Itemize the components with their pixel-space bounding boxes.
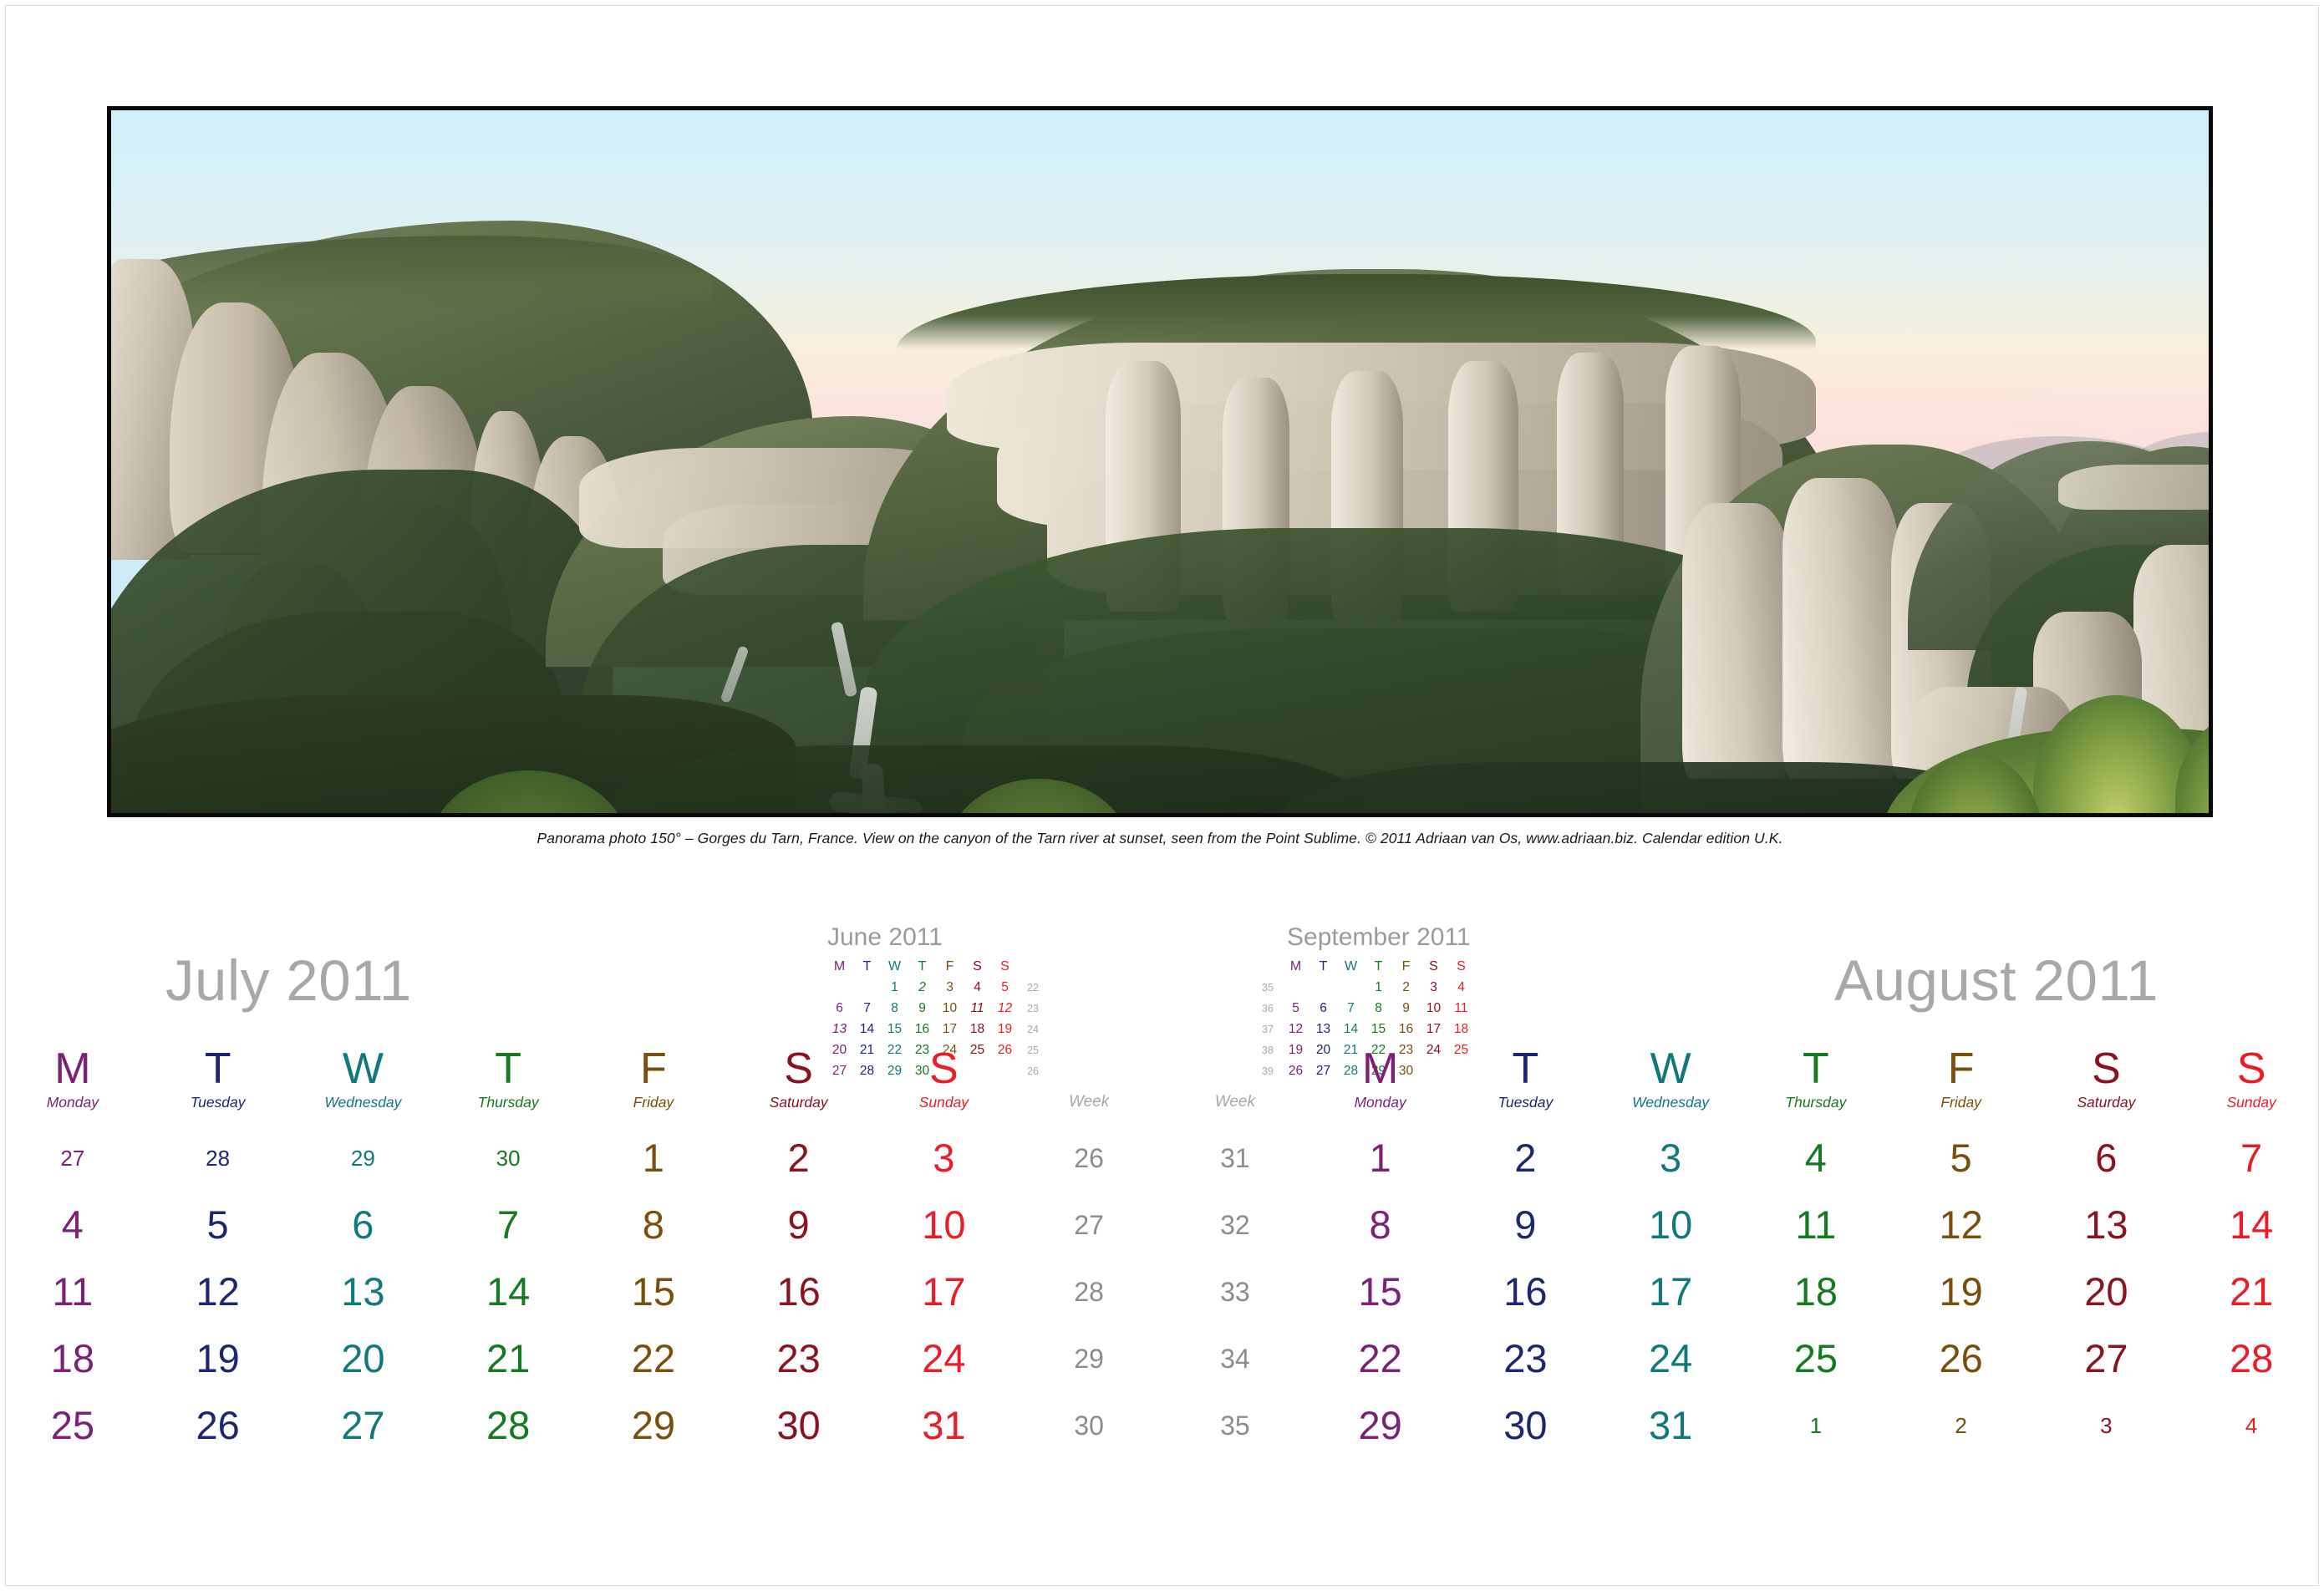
day-number[interactable]: 1 [581,1125,726,1192]
dow-initial-saturday: S [726,1046,872,1091]
day-number[interactable]: 31 [1598,1392,1743,1459]
day-number[interactable]: 30 [1453,1392,1599,1459]
dow-initial-letter: T [145,1046,291,1091]
day-number[interactable]: 28 [435,1392,581,1459]
month-grid-july: MTWTFSSWMondayTuesdayWednesdayThursdayFr… [0,1046,1162,1459]
grid-spacer [291,1113,436,1125]
dow-name-label: Friday [581,1091,726,1113]
day-number-adjacent-month[interactable]: 1 [1743,1392,1889,1459]
day-cell[interactable]: 30 [1453,1392,1599,1459]
week-number-cell: 33 [1162,1258,1308,1325]
day-number[interactable]: 21 [2179,1258,2324,1325]
day-cell[interactable]: 14 [435,1258,581,1325]
week-number-cell: 29 [1016,1325,1162,1392]
grid-spacer [1162,1113,1308,1125]
day-cell[interactable]: 29 [291,1125,436,1192]
panorama-photo-gorges-du-tarn [111,110,2209,813]
day-cell[interactable]: 6 [2034,1125,2179,1192]
week-number-cell: 34 [1162,1325,1308,1392]
day-cell[interactable]: 1 [581,1125,726,1192]
grid-spacer [1889,1113,2034,1125]
grid-spacer [726,1113,872,1125]
week-number: 32 [1162,1192,1308,1258]
day-cell[interactable]: 29 [581,1392,726,1459]
week-number: 28 [1016,1258,1162,1325]
day-cell[interactable]: 22 [1308,1325,1453,1392]
dow-initial-monday: M [1308,1046,1453,1091]
week-number: 27 [1016,1192,1162,1258]
dow-name-friday: Friday [581,1091,726,1113]
week-number: 34 [1162,1325,1308,1392]
day-cell[interactable]: 2 [1453,1125,1599,1192]
day-cell[interactable]: 19 [1889,1258,2034,1325]
day-number[interactable]: 7 [2179,1125,2324,1192]
day-cell[interactable]: 1 [1743,1392,1889,1459]
grid-spacer [1016,1113,1162,1125]
limestone-buttress-right [1682,503,1791,779]
dow-name-wednesday: Wednesday [291,1091,436,1113]
day-cell[interactable]: 22 [581,1325,726,1392]
day-number[interactable]: 3 [872,1125,1017,1192]
day-cell[interactable]: 23 [726,1325,872,1392]
day-number[interactable]: 23 [1453,1325,1599,1392]
day-cell[interactable]: 7 [2179,1125,2324,1192]
grid-spacer [1453,1113,1599,1125]
day-cell[interactable]: 25 [1743,1325,1889,1392]
day-number[interactable]: 26 [1889,1325,2034,1392]
day-cell[interactable]: 9 [1453,1192,1599,1258]
day-number[interactable]: 16 [726,1258,872,1325]
day-number[interactable]: 6 [291,1192,436,1258]
day-number[interactable]: 5 [1889,1125,2034,1192]
week-number: 29 [1016,1325,1162,1392]
dow-name-label: Monday [1308,1091,1453,1113]
dow-name-sunday: Sunday [2179,1091,2324,1113]
dow-name-monday: Monday [1308,1091,1453,1113]
day-number[interactable]: 30 [726,1392,872,1459]
dow-name-label: Sunday [2179,1091,2324,1113]
grid-spacer [2179,1113,2324,1125]
day-number[interactable]: 17 [1598,1258,1743,1325]
day-number[interactable]: 11 [1743,1192,1889,1258]
day-cell[interactable]: 11 [1743,1192,1889,1258]
limestone-buttress-right [1782,478,1899,779]
dow-initial-saturday: S [2034,1046,2179,1091]
day-cell[interactable]: 5 [1889,1125,2034,1192]
grid-spacer [1308,1113,1453,1125]
day-number-adjacent-month[interactable]: 27 [0,1125,145,1192]
day-number[interactable]: 9 [1453,1192,1599,1258]
day-number[interactable]: 2 [1453,1125,1599,1192]
dow-initial-friday: F [1889,1046,2034,1091]
day-cell[interactable]: 24 [872,1325,1017,1392]
day-number[interactable]: 12 [1889,1192,2034,1258]
day-number[interactable]: 4 [0,1192,145,1258]
day-cell[interactable]: 2 [1889,1392,2034,1459]
dow-initial-thursday: T [435,1046,581,1091]
dow-initial-letter: S [872,1046,1017,1091]
dow-name-thursday: Thursday [1743,1091,1889,1113]
day-number[interactable]: 13 [2034,1192,2179,1258]
month-grid-august: WMTWTFSSWeekMondayTuesdayWednesdayThursd… [1162,1046,2324,1459]
dow-name-label: Tuesday [145,1091,291,1113]
day-number[interactable]: 13 [291,1258,436,1325]
dow-name-label: Thursday [1743,1091,1889,1113]
day-number[interactable]: 2 [726,1125,872,1192]
dow-name-sunday: Sunday [872,1091,1017,1113]
day-number[interactable]: 19 [1889,1258,2034,1325]
day-cell[interactable]: 24 [1598,1325,1743,1392]
day-number[interactable]: 5 [145,1192,291,1258]
day-cell[interactable]: 31 [1598,1392,1743,1459]
week-label-text: Week [1162,1091,1308,1113]
dow-initial-letter: S [2034,1046,2179,1091]
day-number[interactable]: 18 [0,1325,145,1392]
day-cell[interactable]: 27 [291,1392,436,1459]
day-cell[interactable]: 4 [0,1192,145,1258]
day-number[interactable]: 10 [1598,1192,1743,1258]
dow-name-wednesday: Wednesday [1598,1091,1743,1113]
day-cell[interactable]: 27 [2034,1325,2179,1392]
day-number[interactable]: 29 [581,1392,726,1459]
day-number[interactable]: 15 [581,1258,726,1325]
day-cell[interactable]: 3 [872,1125,1017,1192]
day-number[interactable]: 3 [1598,1125,1743,1192]
dow-initial-letter: F [1889,1046,2034,1091]
day-number[interactable]: 14 [2179,1192,2324,1258]
dow-name-label: Saturday [2034,1091,2179,1113]
day-number[interactable]: 24 [1598,1325,1743,1392]
day-cell[interactable]: 4 [1743,1125,1889,1192]
dow-name-label: Friday [1889,1091,2034,1113]
dow-name-label: Saturday [726,1091,872,1113]
day-cell[interactable]: 5 [145,1192,291,1258]
month-title-august: August 2011 [1834,948,2159,1014]
day-number-adjacent-month[interactable]: 28 [145,1125,291,1192]
dow-initial-letter: M [1308,1046,1453,1091]
day-cell[interactable]: 3 [1598,1125,1743,1192]
day-cell[interactable]: 20 [291,1325,436,1392]
dow-name-label: Sunday [872,1091,1017,1113]
dow-name-tuesday: Tuesday [145,1091,291,1113]
day-cell[interactable]: 21 [435,1325,581,1392]
week-number-cell: 31 [1162,1125,1308,1192]
day-number-adjacent-month[interactable]: 30 [435,1125,581,1192]
dow-initial-monday: M [0,1046,145,1091]
day-cell[interactable]: 28 [435,1392,581,1459]
day-cell[interactable]: 13 [291,1258,436,1325]
dow-initial-letter: W [291,1046,436,1091]
day-number[interactable]: 22 [581,1325,726,1392]
day-number[interactable]: 27 [291,1392,436,1459]
photo-caption: Panorama photo 150° – Gorges du Tarn, Fr… [107,830,2213,847]
dow-initial-sunday: S [2179,1046,2324,1091]
dow-initial-tuesday: T [145,1046,291,1091]
day-cell[interactable]: 27 [0,1125,145,1192]
week-number-cell: 32 [1162,1192,1308,1258]
day-cell[interactable]: 8 [1308,1192,1453,1258]
day-cell[interactable]: 23 [1453,1325,1599,1392]
day-cell[interactable]: 1 [1308,1125,1453,1192]
week-label-text: Week [1016,1091,1162,1113]
day-number[interactable]: 16 [1453,1258,1599,1325]
day-number[interactable]: 25 [1743,1325,1889,1392]
day-cell[interactable]: 30 [726,1392,872,1459]
day-cell[interactable]: 17 [1598,1258,1743,1325]
day-number[interactable]: 10 [872,1192,1017,1258]
day-number[interactable]: 4 [1743,1125,1889,1192]
week-label: Week [1162,1091,1308,1113]
day-cell[interactable]: 31 [872,1392,1017,1459]
month-title-july: July 2011 [165,948,412,1014]
grid-spacer [581,1113,726,1125]
day-number[interactable]: 25 [0,1392,145,1459]
dow-name-friday: Friday [1889,1091,2034,1113]
day-cell[interactable]: 15 [1308,1258,1453,1325]
day-number[interactable]: 29 [1308,1392,1453,1459]
day-cell[interactable]: 12 [1889,1192,2034,1258]
day-cell[interactable]: 28 [145,1125,291,1192]
day-number[interactable]: 19 [145,1325,291,1392]
day-cell[interactable]: 2 [726,1125,872,1192]
day-number[interactable]: 1 [1308,1125,1453,1192]
day-number[interactable]: 18 [1743,1258,1889,1325]
calendar-spread: July 2011 MTWTFSSWMondayTuesdayWednesday… [0,902,2324,1591]
dow-initial-letter: T [1743,1046,1889,1091]
day-number-adjacent-month[interactable]: 2 [1889,1392,2034,1459]
dow-initial-letter: T [435,1046,581,1091]
day-number[interactable]: 8 [1308,1192,1453,1258]
grid-spacer [1743,1113,1889,1125]
day-number[interactable]: 20 [291,1325,436,1392]
day-number[interactable]: 28 [2179,1325,2324,1392]
day-number[interactable]: 17 [872,1258,1017,1325]
day-number[interactable]: 27 [2034,1325,2179,1392]
panorama-photo-frame [107,106,2213,817]
week-number-cell: 27 [1016,1192,1162,1258]
dow-initial-letter: S [726,1046,872,1091]
day-cell[interactable]: 18 [1743,1258,1889,1325]
dow-initial-letter: F [581,1046,726,1091]
dow-name-thursday: Thursday [435,1091,581,1113]
day-cell[interactable]: 26 [1889,1325,2034,1392]
dow-initial-thursday: T [1743,1046,1889,1091]
week-column-header: W [1162,1046,1308,1091]
day-cell[interactable]: 30 [435,1125,581,1192]
dow-initial-friday: F [581,1046,726,1091]
week-number: 30 [1016,1392,1162,1459]
day-cell[interactable]: 17 [872,1258,1017,1325]
day-cell[interactable]: 4 [2179,1392,2324,1459]
dow-initial-letter: M [0,1046,145,1091]
day-number[interactable]: 26 [145,1392,291,1459]
day-cell[interactable]: 26 [145,1392,291,1459]
week-number-cell: 26 [1016,1125,1162,1192]
day-number[interactable]: 11 [0,1258,145,1325]
day-cell[interactable]: 13 [2034,1192,2179,1258]
dow-name-monday: Monday [0,1091,145,1113]
day-cell[interactable]: 28 [2179,1325,2324,1392]
day-number[interactable]: 21 [435,1325,581,1392]
dow-name-label: Wednesday [1598,1091,1743,1113]
dow-name-label: Wednesday [291,1091,436,1113]
week-number: 26 [1016,1125,1162,1192]
day-cell[interactable]: 20 [2034,1258,2179,1325]
dow-initial-letter: W [1598,1046,1743,1091]
dow-initial-wednesday: W [1598,1046,1743,1091]
dow-name-tuesday: Tuesday [1453,1091,1599,1113]
day-cell[interactable]: 16 [1453,1258,1599,1325]
dow-initial-letter: S [2179,1046,2324,1091]
day-cell[interactable]: 21 [2179,1258,2324,1325]
grid-spacer [0,1113,145,1125]
day-cell[interactable]: 18 [0,1325,145,1392]
grid-spacer [1598,1113,1743,1125]
day-cell[interactable]: 10 [1598,1192,1743,1258]
grid-spacer [2034,1113,2179,1125]
dow-initial-sunday: S [872,1046,1017,1091]
day-cell[interactable]: 11 [0,1258,145,1325]
day-cell[interactable]: 14 [2179,1192,2324,1258]
week-label: Week [1016,1091,1162,1113]
day-number[interactable]: 12 [145,1258,291,1325]
day-number[interactable]: 7 [435,1192,581,1258]
dow-name-label: Monday [0,1091,145,1113]
day-number[interactable]: 15 [1308,1258,1453,1325]
day-cell[interactable]: 3 [2034,1392,2179,1459]
day-number[interactable]: 14 [435,1258,581,1325]
day-number[interactable]: 22 [1308,1325,1453,1392]
dow-initial-tuesday: T [1453,1046,1599,1091]
day-cell[interactable]: 15 [581,1258,726,1325]
day-number[interactable]: 20 [2034,1258,2179,1325]
week-number: 35 [1162,1392,1308,1459]
day-cell[interactable]: 19 [145,1325,291,1392]
dow-name-label: Thursday [435,1091,581,1113]
day-cell[interactable]: 16 [726,1258,872,1325]
day-number-adjacent-month[interactable]: 4 [2179,1392,2324,1459]
dow-initial-wednesday: W [291,1046,436,1091]
calendar-page: Panorama photo 150° – Gorges du Tarn, Fr… [0,0,2324,1591]
grid-spacer [435,1113,581,1125]
day-number[interactable]: 6 [2034,1125,2179,1192]
dow-name-label: Tuesday [1453,1091,1599,1113]
day-cell[interactable]: 12 [145,1258,291,1325]
dow-name-saturday: Saturday [2034,1091,2179,1113]
grid-spacer [872,1113,1017,1125]
day-number-adjacent-month[interactable]: 3 [2034,1392,2179,1459]
day-number[interactable]: 9 [726,1192,872,1258]
dow-name-saturday: Saturday [726,1091,872,1113]
day-number[interactable]: 23 [726,1325,872,1392]
day-cell[interactable]: 9 [726,1192,872,1258]
day-cell[interactable]: 10 [872,1192,1017,1258]
week-number: 33 [1162,1258,1308,1325]
week-number: 31 [1162,1125,1308,1192]
week-number-cell: 30 [1016,1392,1162,1459]
grid-spacer [145,1113,291,1125]
week-column-header: W [1016,1046,1162,1091]
week-number-cell: 35 [1162,1392,1308,1459]
week-number-cell: 28 [1016,1258,1162,1325]
limestone-band-right [2058,465,2209,510]
day-cell[interactable]: 7 [435,1192,581,1258]
day-number[interactable]: 31 [872,1392,1017,1459]
day-cell[interactable]: 29 [1308,1392,1453,1459]
dow-initial-letter: T [1453,1046,1599,1091]
day-number-adjacent-month[interactable]: 29 [291,1125,436,1192]
day-cell[interactable]: 25 [0,1392,145,1459]
day-number[interactable]: 8 [581,1192,726,1258]
day-number[interactable]: 24 [872,1325,1017,1392]
day-cell[interactable]: 8 [581,1192,726,1258]
day-cell[interactable]: 6 [291,1192,436,1258]
